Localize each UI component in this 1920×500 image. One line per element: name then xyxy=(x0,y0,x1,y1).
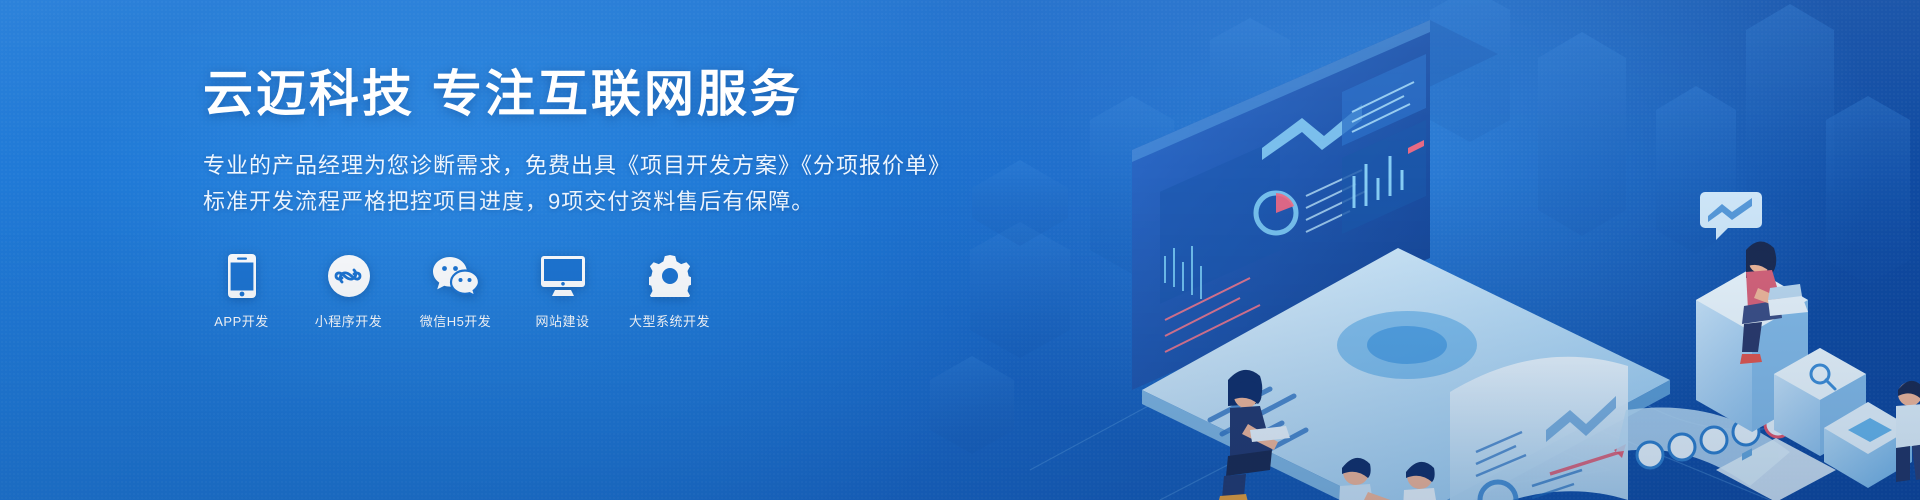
subtitle-line-1: 专业的产品经理为您诊断需求，免费出具《项目开发方案》《分项报价单》 xyxy=(203,148,1103,184)
service-list: APP开发 小程序开发 xyxy=(203,253,1103,330)
service-label: APP开发 xyxy=(214,311,269,330)
monitor-icon xyxy=(541,253,585,299)
banner-subtitle: 专业的产品经理为您诊断需求，免费出具《项目开发方案》《分项报价单》 标准开发流程… xyxy=(203,148,1103,219)
subtitle-line-2: 标准开发流程严格把控项目进度，9项交付资料售后有保障。 xyxy=(203,184,1103,220)
service-label: 小程序开发 xyxy=(315,311,383,330)
hero-banner: 云迈科技 专注互联网服务 专业的产品经理为您诊断需求，免费出具《项目开发方案》《… xyxy=(0,0,1920,500)
service-label: 网站建设 xyxy=(535,311,589,330)
service-label: 大型系统开发 xyxy=(629,311,710,330)
wechat-icon xyxy=(432,253,480,299)
service-item-miniprogram[interactable]: 小程序开发 xyxy=(310,253,387,330)
service-item-system[interactable]: 大型系统开发 xyxy=(631,253,708,330)
service-label: 微信H5开发 xyxy=(420,311,492,330)
service-item-website[interactable]: 网站建设 xyxy=(524,253,601,330)
service-item-wechat-h5[interactable]: 微信H5开发 xyxy=(417,253,494,330)
banner-content: 云迈科技 专注互联网服务 专业的产品经理为您诊断需求，免费出具《项目开发方案》《… xyxy=(203,64,1103,330)
mobile-phone-icon xyxy=(228,253,256,299)
gear-icon xyxy=(649,253,691,299)
service-item-app[interactable]: APP开发 xyxy=(203,253,280,330)
mini-program-icon xyxy=(328,253,370,299)
page-title: 云迈科技 专注互联网服务 xyxy=(203,64,1103,124)
